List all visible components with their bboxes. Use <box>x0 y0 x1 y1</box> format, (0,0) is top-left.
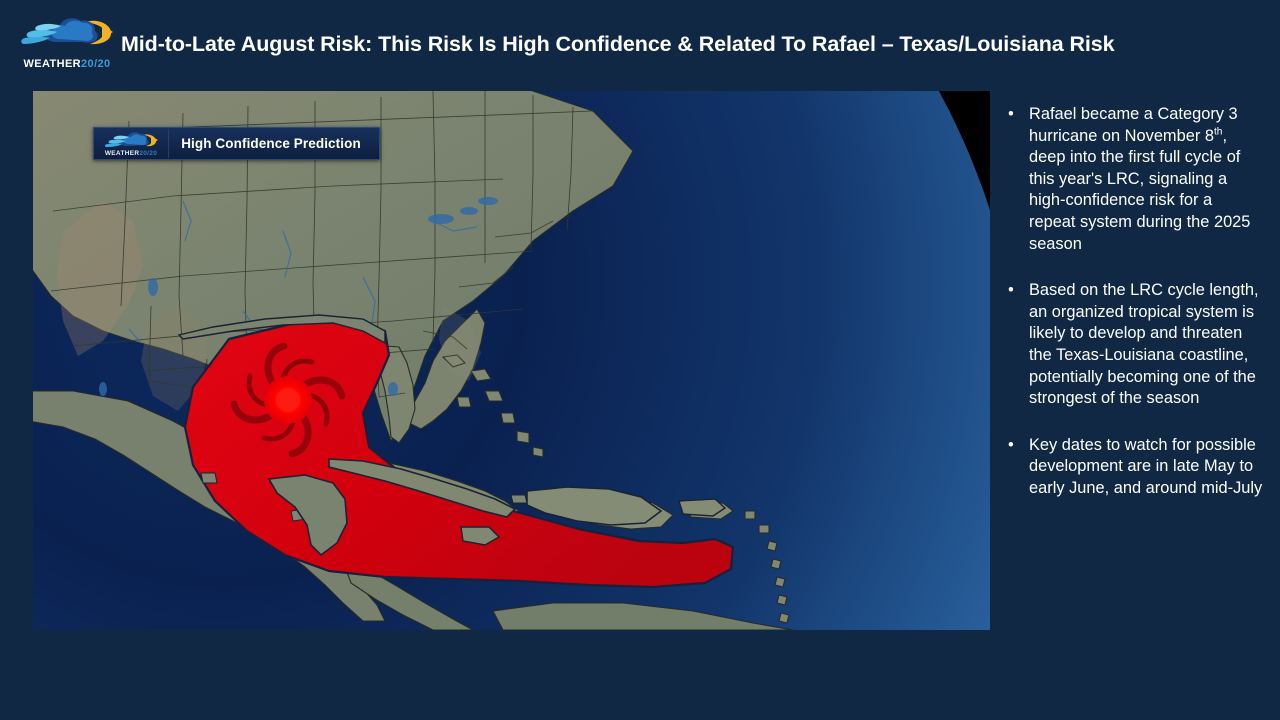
list-item: • Key dates to watch for possible develo… <box>1001 435 1263 500</box>
bullet-text-before: Based on the LRC cycle length, an organi… <box>1029 281 1259 407</box>
bullet-text: Key dates to watch for possible developm… <box>1029 436 1262 497</box>
logo-weather-text: WEATHER <box>23 58 81 70</box>
logo-2020-text: 20/20 <box>81 58 111 70</box>
badge-label: High Confidence Prediction <box>169 136 379 151</box>
logo-wordmark: WEATHER20/20 <box>16 58 118 70</box>
badge-2020-text: 20/20 <box>139 150 157 157</box>
badge-weather-text: WEATHER <box>105 150 139 157</box>
bullet-list: • Rafael became a Category 3 hurricane o… <box>1001 104 1263 500</box>
slide-root: WEATHER20/20 Mid-to-Late August Risk: Th… <box>0 0 1280 720</box>
list-item: • Based on the LRC cycle length, an orga… <box>1001 280 1263 410</box>
badge-logo: WEATHER20/20 <box>94 129 169 158</box>
badge-cloud-logo-icon <box>102 130 160 148</box>
bullet-text: Rafael became a Category 3 hurricane on … <box>1029 105 1250 253</box>
forecast-map-panel[interactable]: WEATHER20/20 High Confidence Prediction <box>33 91 990 630</box>
bullet-text-before: Rafael became a Category 3 hurricane on … <box>1029 105 1238 145</box>
map-badge: WEATHER20/20 High Confidence Prediction <box>93 127 380 160</box>
globe-map-graphic <box>33 91 990 630</box>
bullet-text-after: , deep into the first full cycle of this… <box>1029 127 1250 253</box>
slide-header: WEATHER20/20 Mid-to-Late August Risk: Th… <box>0 0 1280 88</box>
bullet-text-before: Key dates to watch for possible developm… <box>1029 436 1262 497</box>
badge-logo-wordmark: WEATHER20/20 <box>94 150 168 157</box>
bullet-text: Based on the LRC cycle length, an organi… <box>1029 281 1259 407</box>
brand-logo: WEATHER20/20 <box>14 12 118 70</box>
page-title: Mid-to-Late August Risk: This Risk Is Hi… <box>121 29 1271 59</box>
cloud-logo-icon <box>14 12 118 54</box>
bullet-marker: • <box>1008 435 1014 457</box>
bullet-marker: • <box>1008 104 1014 126</box>
bullet-marker: • <box>1008 280 1014 302</box>
list-item: • Rafael became a Category 3 hurricane o… <box>1001 104 1263 255</box>
